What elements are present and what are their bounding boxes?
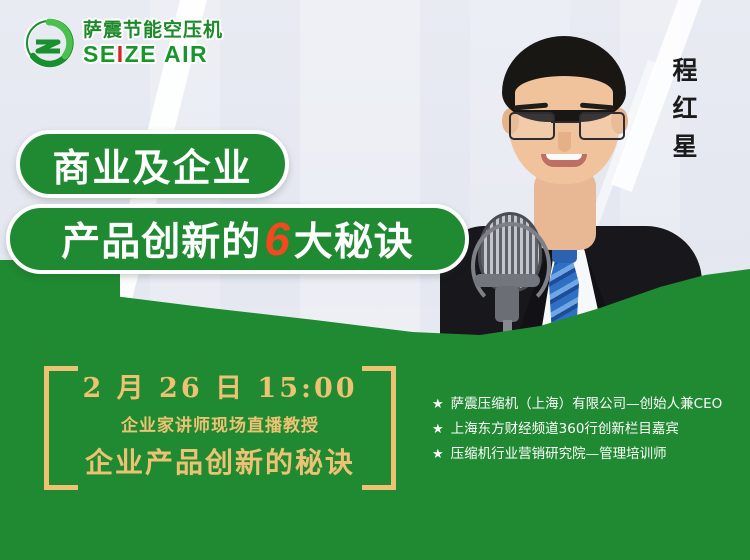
brand-name-cn: 萨震节能空压机 [83, 21, 223, 40]
speaker-name-vertical: 程红星 [664, 52, 706, 166]
eyeglasses-icon [509, 112, 621, 136]
headline-line2-before: 产品创新的 [61, 211, 261, 267]
headline-number-6: 6 [261, 212, 294, 266]
headline-line2-after: 大秘诀 [294, 211, 414, 267]
credential-text: 压缩机行业营销研究院—管理培训师 [451, 442, 667, 467]
credential-text: 萨震压缩机（上海）有限公司—创始人兼CEO [451, 392, 723, 417]
brand-en-accent: I [117, 41, 125, 67]
brand-en-prefix: SE [83, 41, 117, 67]
glasses-bridge [551, 121, 579, 123]
event-datetime: 2 月 26 日 15:00 [82, 375, 357, 403]
headline-pill-2: 产品创新的6大秘诀 [6, 204, 469, 274]
event-info-block: 2 月 26 日 15:00 企业家讲师现场直播教授 企业产品创新的秘诀 [44, 366, 396, 490]
lens-right [579, 112, 625, 140]
list-item: ★ 萨震压缩机（上海）有限公司—创始人兼CEO [432, 392, 742, 417]
lens-left [509, 112, 555, 140]
star-icon: ★ [432, 417, 444, 442]
star-icon: ★ [432, 442, 444, 467]
credentials-list: ★ 萨震压缩机（上海）有限公司—创始人兼CEO ★ 上海东方财经频道360行创新… [432, 392, 742, 467]
brand-wordmark: 萨震节能空压机 SEIZE AIR [83, 21, 223, 66]
star-icon: ★ [432, 392, 444, 417]
credential-text: 上海东方财经频道360行创新栏目嘉宾 [451, 417, 679, 442]
sz-circle-emblem-icon [24, 18, 74, 68]
brand-name-en: SEIZE AIR [83, 43, 223, 66]
mouth [541, 154, 587, 167]
list-item: ★ 压缩机行业营销研究院—管理培训师 [432, 442, 742, 467]
headline-pill-1: 商业及企业 [16, 130, 289, 198]
promo-poster: 程红星 萨震节能空压机 SEIZE AIR 商业及企业 产品创新的6大秘诀 [0, 0, 750, 560]
event-subtitle: 企业家讲师现场直播教授 [121, 411, 319, 436]
brand-en-suffix: ZE AIR [125, 41, 209, 67]
event-topic: 企业产品创新的秘诀 [85, 441, 355, 481]
brand-logo[interactable]: 萨震节能空压机 SEIZE AIR [24, 18, 223, 68]
microphone-body [495, 286, 519, 322]
list-item: ★ 上海东方财经频道360行创新栏目嘉宾 [432, 417, 742, 442]
